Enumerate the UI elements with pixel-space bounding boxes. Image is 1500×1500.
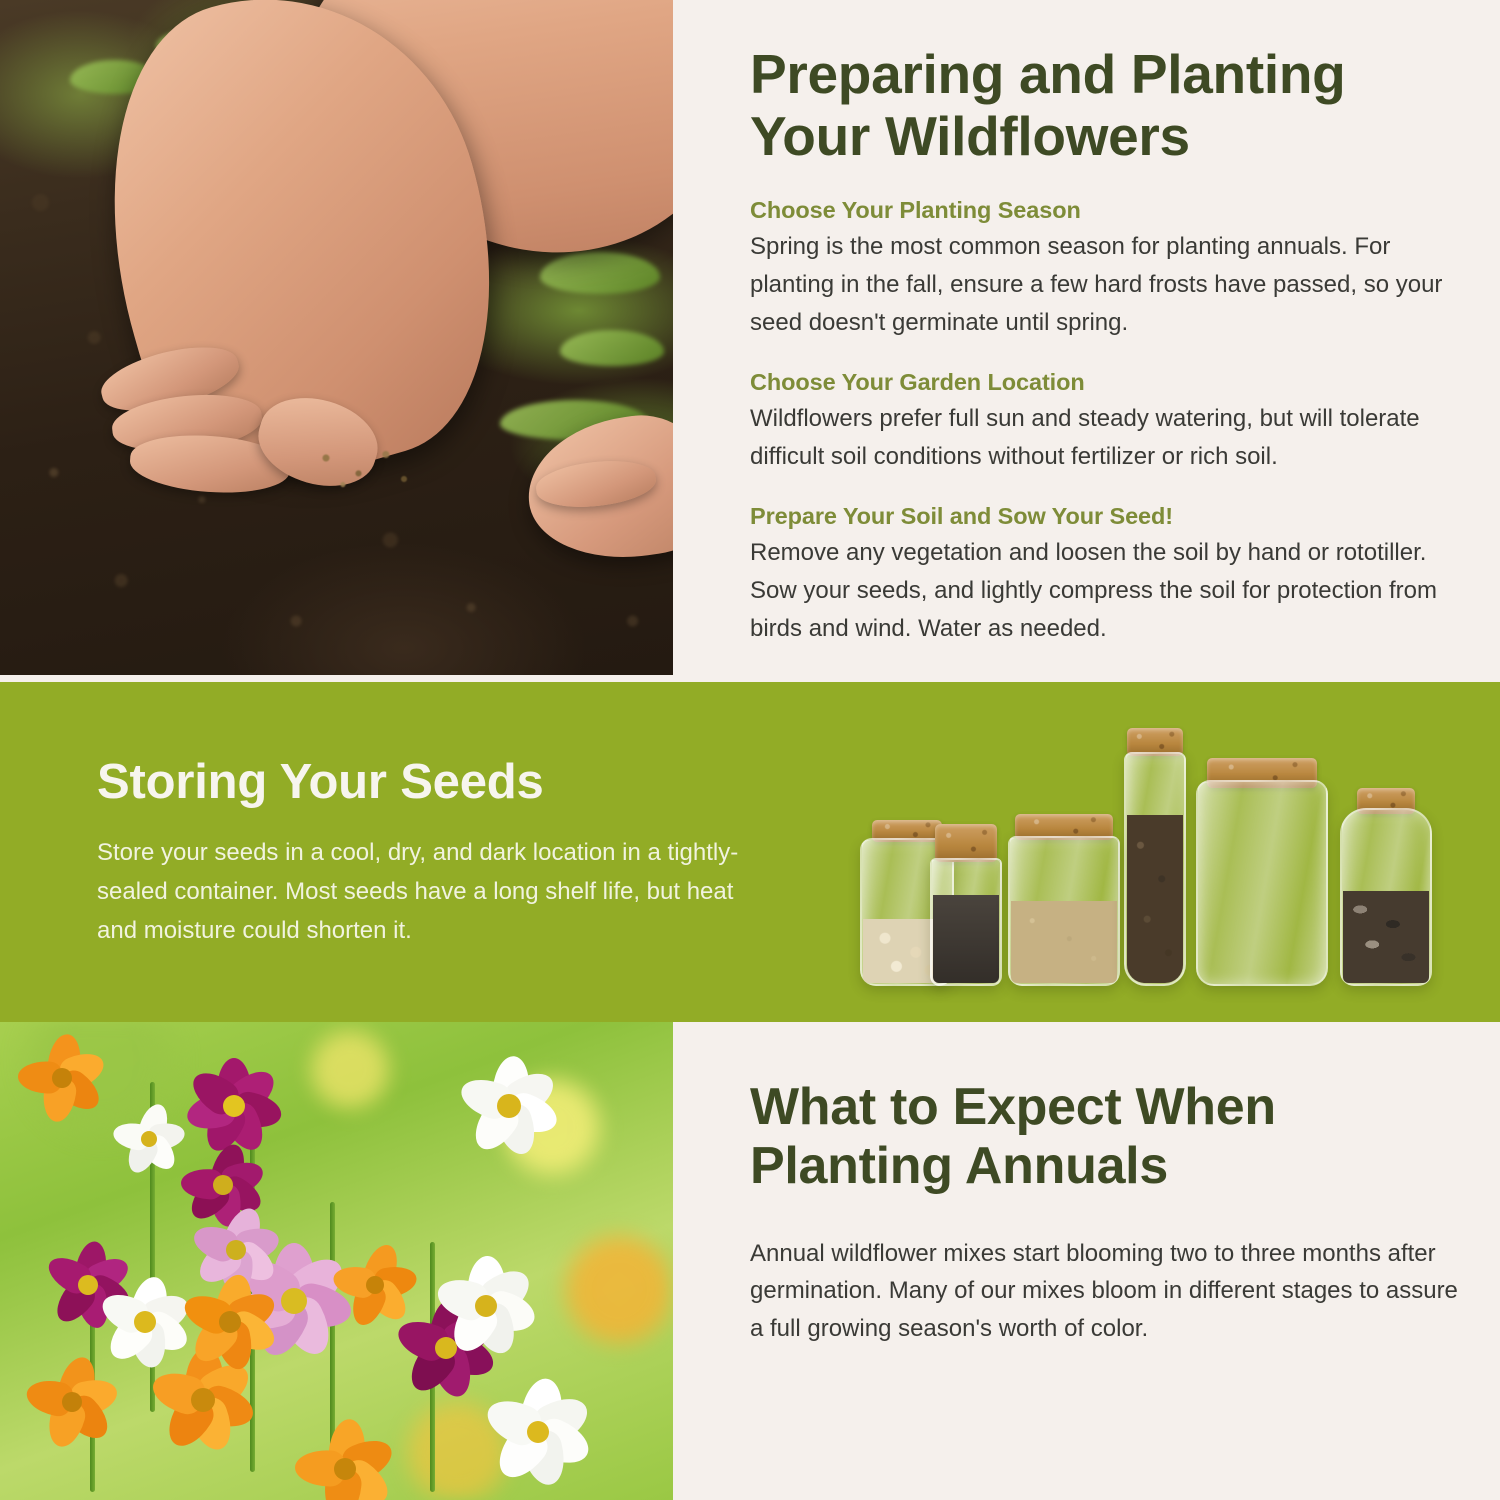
wildflower-bouquet-photo xyxy=(0,1022,673,1500)
subhead-planting-season: Choose Your Planting Season xyxy=(750,197,1460,224)
black-poppy-seed-jar xyxy=(930,858,1002,986)
tan-grain-jar xyxy=(1008,836,1120,986)
subhead-prepare-soil: Prepare Your Soil and Sow Your Seed! xyxy=(750,503,1460,530)
petals xyxy=(290,1414,400,1500)
infographic-page: Preparing and Planting Your Wildflowers … xyxy=(0,0,1500,1500)
flower-center xyxy=(497,1094,521,1118)
flower-center xyxy=(62,1392,82,1412)
seed-fill xyxy=(1127,815,1183,983)
subhead-garden-location: Choose Your Garden Location xyxy=(750,369,1460,396)
white-cosmos-flower xyxy=(110,1100,188,1178)
what-to-expect-text-panel: What to Expect When Planting Annuals Ann… xyxy=(673,1022,1500,1500)
hand-sowing-seeds-photo xyxy=(0,0,673,675)
seed-fill xyxy=(933,895,999,983)
sunflower-seed-jar xyxy=(1340,808,1432,986)
flower-center xyxy=(527,1421,549,1443)
orange-cosmos-flower xyxy=(330,1240,420,1330)
flower-center xyxy=(281,1288,307,1314)
white-cosmos-flower xyxy=(455,1052,563,1160)
orange-cosmos-flower xyxy=(178,1270,282,1374)
flower-center xyxy=(213,1175,233,1195)
preparing-planting-text-panel: Preparing and Planting Your Wildflowers … xyxy=(673,0,1500,682)
what-to-expect-title: What to Expect When Planting Annuals xyxy=(750,1078,1410,1197)
sprout-icon xyxy=(560,330,664,366)
storing-seeds-title: Storing Your Seeds xyxy=(97,754,544,810)
section-preparing-planting: Preparing and Planting Your Wildflowers … xyxy=(0,0,1500,682)
seed-jars-photo xyxy=(848,704,1468,1004)
section-what-to-expect: What to Expect When Planting Annuals Ann… xyxy=(0,1022,1500,1500)
orange-cosmos-flower xyxy=(14,1030,110,1126)
cork-lid-icon xyxy=(935,824,997,862)
flower-center xyxy=(226,1240,246,1260)
flower-center xyxy=(475,1295,497,1317)
pumpkin-seed-jar xyxy=(1196,780,1328,986)
flower-center xyxy=(141,1131,157,1147)
planting-season-block: Choose Your Planting Season Spring is th… xyxy=(750,197,1460,342)
page-title: Preparing and Planting Your Wildflowers xyxy=(750,44,1430,167)
seed-fill xyxy=(1011,901,1117,983)
section-storing-seeds: Storing Your Seeds Store your seeds in a… xyxy=(0,682,1500,1022)
orange-cosmos-flower xyxy=(290,1414,400,1500)
what-to-expect-body: Annual wildflower mixes start blooming t… xyxy=(750,1235,1460,1349)
flower-center xyxy=(334,1458,356,1480)
flower-center xyxy=(52,1068,72,1088)
white-cosmos-flower xyxy=(430,1250,542,1362)
flower-center xyxy=(366,1276,384,1294)
seed-fill xyxy=(1343,891,1429,983)
body-prepare-soil: Remove any vegetation and loosen the soi… xyxy=(750,534,1460,648)
seed-fill xyxy=(1199,861,1325,983)
orange-cosmos-flower xyxy=(22,1352,122,1452)
seeds-in-palm xyxy=(300,430,430,500)
white-cosmos-flower xyxy=(478,1372,598,1492)
body-garden-location: Wildflowers prefer full sun and steady w… xyxy=(750,400,1460,476)
flower-center xyxy=(191,1388,215,1412)
garden-location-block: Choose Your Garden Location Wildflowers … xyxy=(750,369,1460,476)
dark-seed-tube xyxy=(1124,752,1186,986)
flower-center xyxy=(219,1311,241,1333)
flower-center xyxy=(134,1311,156,1333)
sprout-icon xyxy=(540,252,660,294)
storing-seeds-body: Store your seeds in a cool, dry, and dar… xyxy=(97,834,742,951)
body-planting-season: Spring is the most common season for pla… xyxy=(750,228,1460,342)
flower-center xyxy=(223,1095,245,1117)
prepare-soil-block: Prepare Your Soil and Sow Your Seed! Rem… xyxy=(750,503,1460,648)
